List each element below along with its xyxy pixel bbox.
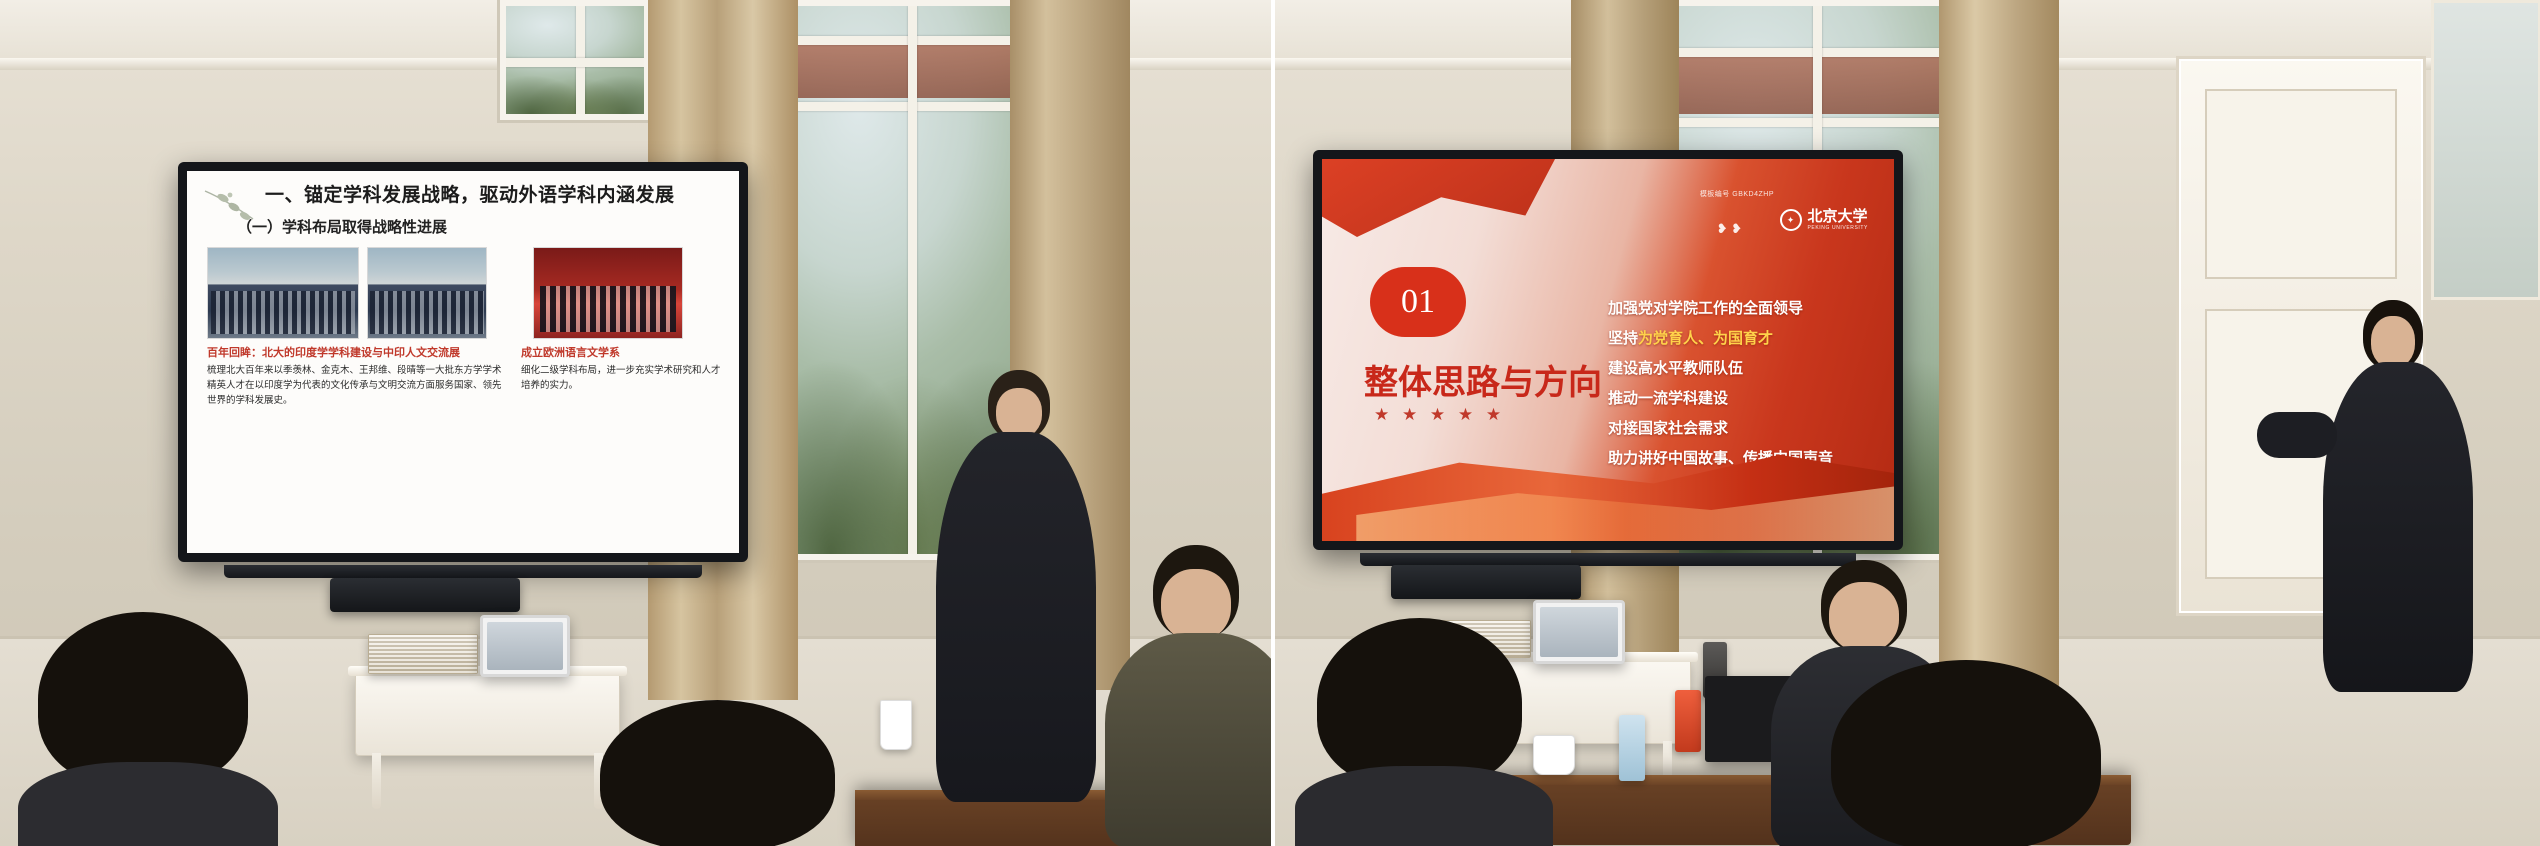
soundbar <box>1391 565 1581 599</box>
attendee-hair <box>1831 660 2101 846</box>
presenter-standing-woman <box>2301 300 2491 820</box>
window-mullion <box>788 36 1026 45</box>
panel-divider <box>1271 0 1275 846</box>
attendee-back-right <box>1831 660 2111 846</box>
window-mullion <box>1667 118 1955 127</box>
tablet-screen <box>1540 607 1618 657</box>
attendee-face <box>1161 569 1231 641</box>
slide-column-2: 成立欧洲语言文学系 细化二级学科布局，进一步充实学术研究和人才培养的实力。 <box>521 247 721 408</box>
bullet-highlight: 为党育人、为国育才 <box>1638 330 1773 347</box>
slide-title: 一、锚定学科发展战略，驱动外语学科内涵发展 <box>265 185 721 207</box>
bullet-item: 坚持为党育人、为国育才 <box>1608 327 1833 348</box>
presenter-torso <box>936 432 1096 802</box>
window-mullion <box>506 58 644 67</box>
bullet-item: 建设高水平教师队伍 <box>1608 357 1833 378</box>
side-console-table <box>355 672 620 756</box>
presenter-standing <box>930 370 1100 800</box>
right-photo: 01 整体思路与方向 ★ ★ ★ ★ ★ ✦ 北京大学 PEKING UNIVE… <box>1271 0 2540 846</box>
attendee-torso <box>18 762 278 846</box>
slide-subtitle: （一）学科布局取得战略性进展 <box>237 216 721 237</box>
thermos-cup <box>1675 690 1701 752</box>
caption-body-2: 细化二级学科布局，进一步充实学术研究和人才培养的实力。 <box>521 364 721 393</box>
display-screen: 一、锚定学科发展战略，驱动外语学科内涵发展 （一）学科布局取得战略性进展 百年回… <box>187 171 739 553</box>
photo-row <box>207 247 505 339</box>
template-code: 模板编号 GBKD4ZHP <box>1700 189 1774 199</box>
window-upper-left <box>500 0 650 120</box>
window-mullion <box>788 102 1026 111</box>
group-photo-building-entrance <box>207 247 359 339</box>
ink-branch-decoration <box>203 185 263 229</box>
caption-red-2: 成立欧洲语言文学系 <box>521 346 721 360</box>
presenter-face <box>996 388 1042 438</box>
attendee-glasses-foreground <box>1105 545 1271 845</box>
dove-icon: ❥ ❥ <box>1717 221 1742 237</box>
two-panel-composite: 一、锚定学科发展战略，驱动外语学科内涵发展 （一）学科布局取得战略性进展 百年回… <box>0 0 2540 846</box>
ceremony-photo-red-stage <box>533 247 683 339</box>
logo-name: 北京大学 <box>1808 210 1869 225</box>
seal-icon: ✦ <box>1780 209 1802 231</box>
presenter-face <box>2371 316 2415 368</box>
university-logo: ✦ 北京大学 PEKING UNIVERSITY <box>1780 209 1869 231</box>
section-title: 整体思路与方向 <box>1364 355 1602 404</box>
stars-decoration: ★ ★ ★ ★ ★ <box>1374 405 1505 425</box>
paper-cup <box>1533 735 1575 775</box>
attendee-hair <box>600 700 835 846</box>
caption-body-1: 梳理北大百年来以季羡林、金克木、王邦维、段晴等一大批东方学学术精英人才在以印度学… <box>207 364 505 408</box>
display-screen: 01 整体思路与方向 ★ ★ ★ ★ ★ ✦ 北京大学 PEKING UNIVE… <box>1322 159 1894 541</box>
tablet-screen <box>487 622 563 670</box>
book-stack <box>368 634 478 674</box>
control-tablet[interactable] <box>1533 600 1625 664</box>
section-number-badge: 01 <box>1370 267 1466 337</box>
logo-text-block: 北京大学 PEKING UNIVERSITY <box>1808 210 1869 231</box>
group-photo-indoor <box>367 247 487 339</box>
logo-subname: PEKING UNIVERSITY <box>1808 225 1869 231</box>
attendee-face <box>1829 582 1899 652</box>
glass-transom <box>2431 0 2540 300</box>
wall-mounted-display[interactable]: 01 整体思路与方向 ★ ★ ★ ★ ★ ✦ 北京大学 PEKING UNIVE… <box>1313 150 1903 550</box>
water-bottle <box>1619 715 1645 781</box>
presenter-torso <box>2323 362 2473 692</box>
display-lower-bezel <box>224 565 703 578</box>
attendee-hair <box>38 612 248 787</box>
brick-band <box>1667 52 1955 114</box>
attendee-back-left <box>38 612 258 846</box>
bullet-item: 推动一流学科建设 <box>1608 387 1833 408</box>
slide-column-1: 百年回眸：北大的印度学学科建设与中印人文交流展 梳理北大百年来以季羡林、金克木、… <box>207 247 505 408</box>
slide-left: 一、锚定学科发展战略，驱动外语学科内涵发展 （一）学科布局取得战略性进展 百年回… <box>187 171 739 553</box>
slide-right: 01 整体思路与方向 ★ ★ ★ ★ ★ ✦ 北京大学 PEKING UNIVE… <box>1322 159 1894 541</box>
console-leg <box>372 753 381 809</box>
bullet-item: 加强党对学院工作的全面领导 <box>1608 297 1833 318</box>
attendee-torso <box>1105 633 1271 846</box>
attendee-torso <box>1295 766 1553 846</box>
left-photo: 一、锚定学科发展战略，驱动外语学科内涵发展 （一）学科布局取得战略性进展 百年回… <box>0 0 1271 846</box>
door-panel-upper <box>2205 89 2397 279</box>
slide-bullet-list: 加强党对学院工作的全面领导 坚持为党育人、为国育才 建设高水平教师队伍 推动一流… <box>1608 297 1833 477</box>
window-mullion <box>908 6 917 554</box>
attendee-back-lower <box>600 700 840 846</box>
attendee-back-left <box>1317 618 1537 846</box>
control-tablet[interactable] <box>480 615 570 677</box>
wall-mounted-display[interactable]: 一、锚定学科发展战略，驱动外语学科内涵发展 （一）学科布局取得战略性进展 百年回… <box>178 162 748 562</box>
brick-band <box>788 40 1026 98</box>
paper-cup <box>880 700 912 750</box>
presenter-arm <box>2257 412 2337 458</box>
bullet-item: 对接国家社会需求 <box>1608 417 1833 438</box>
window-mullion <box>1667 48 1955 57</box>
slide-columns: 百年回眸：北大的印度学学科建设与中印人文交流展 梳理北大百年来以季羡林、金克木、… <box>207 247 721 408</box>
soundbar <box>330 578 520 612</box>
attendee-hair <box>1317 618 1522 788</box>
caption-red-1: 百年回眸：北大的印度学学科建设与中印人文交流展 <box>207 346 505 360</box>
